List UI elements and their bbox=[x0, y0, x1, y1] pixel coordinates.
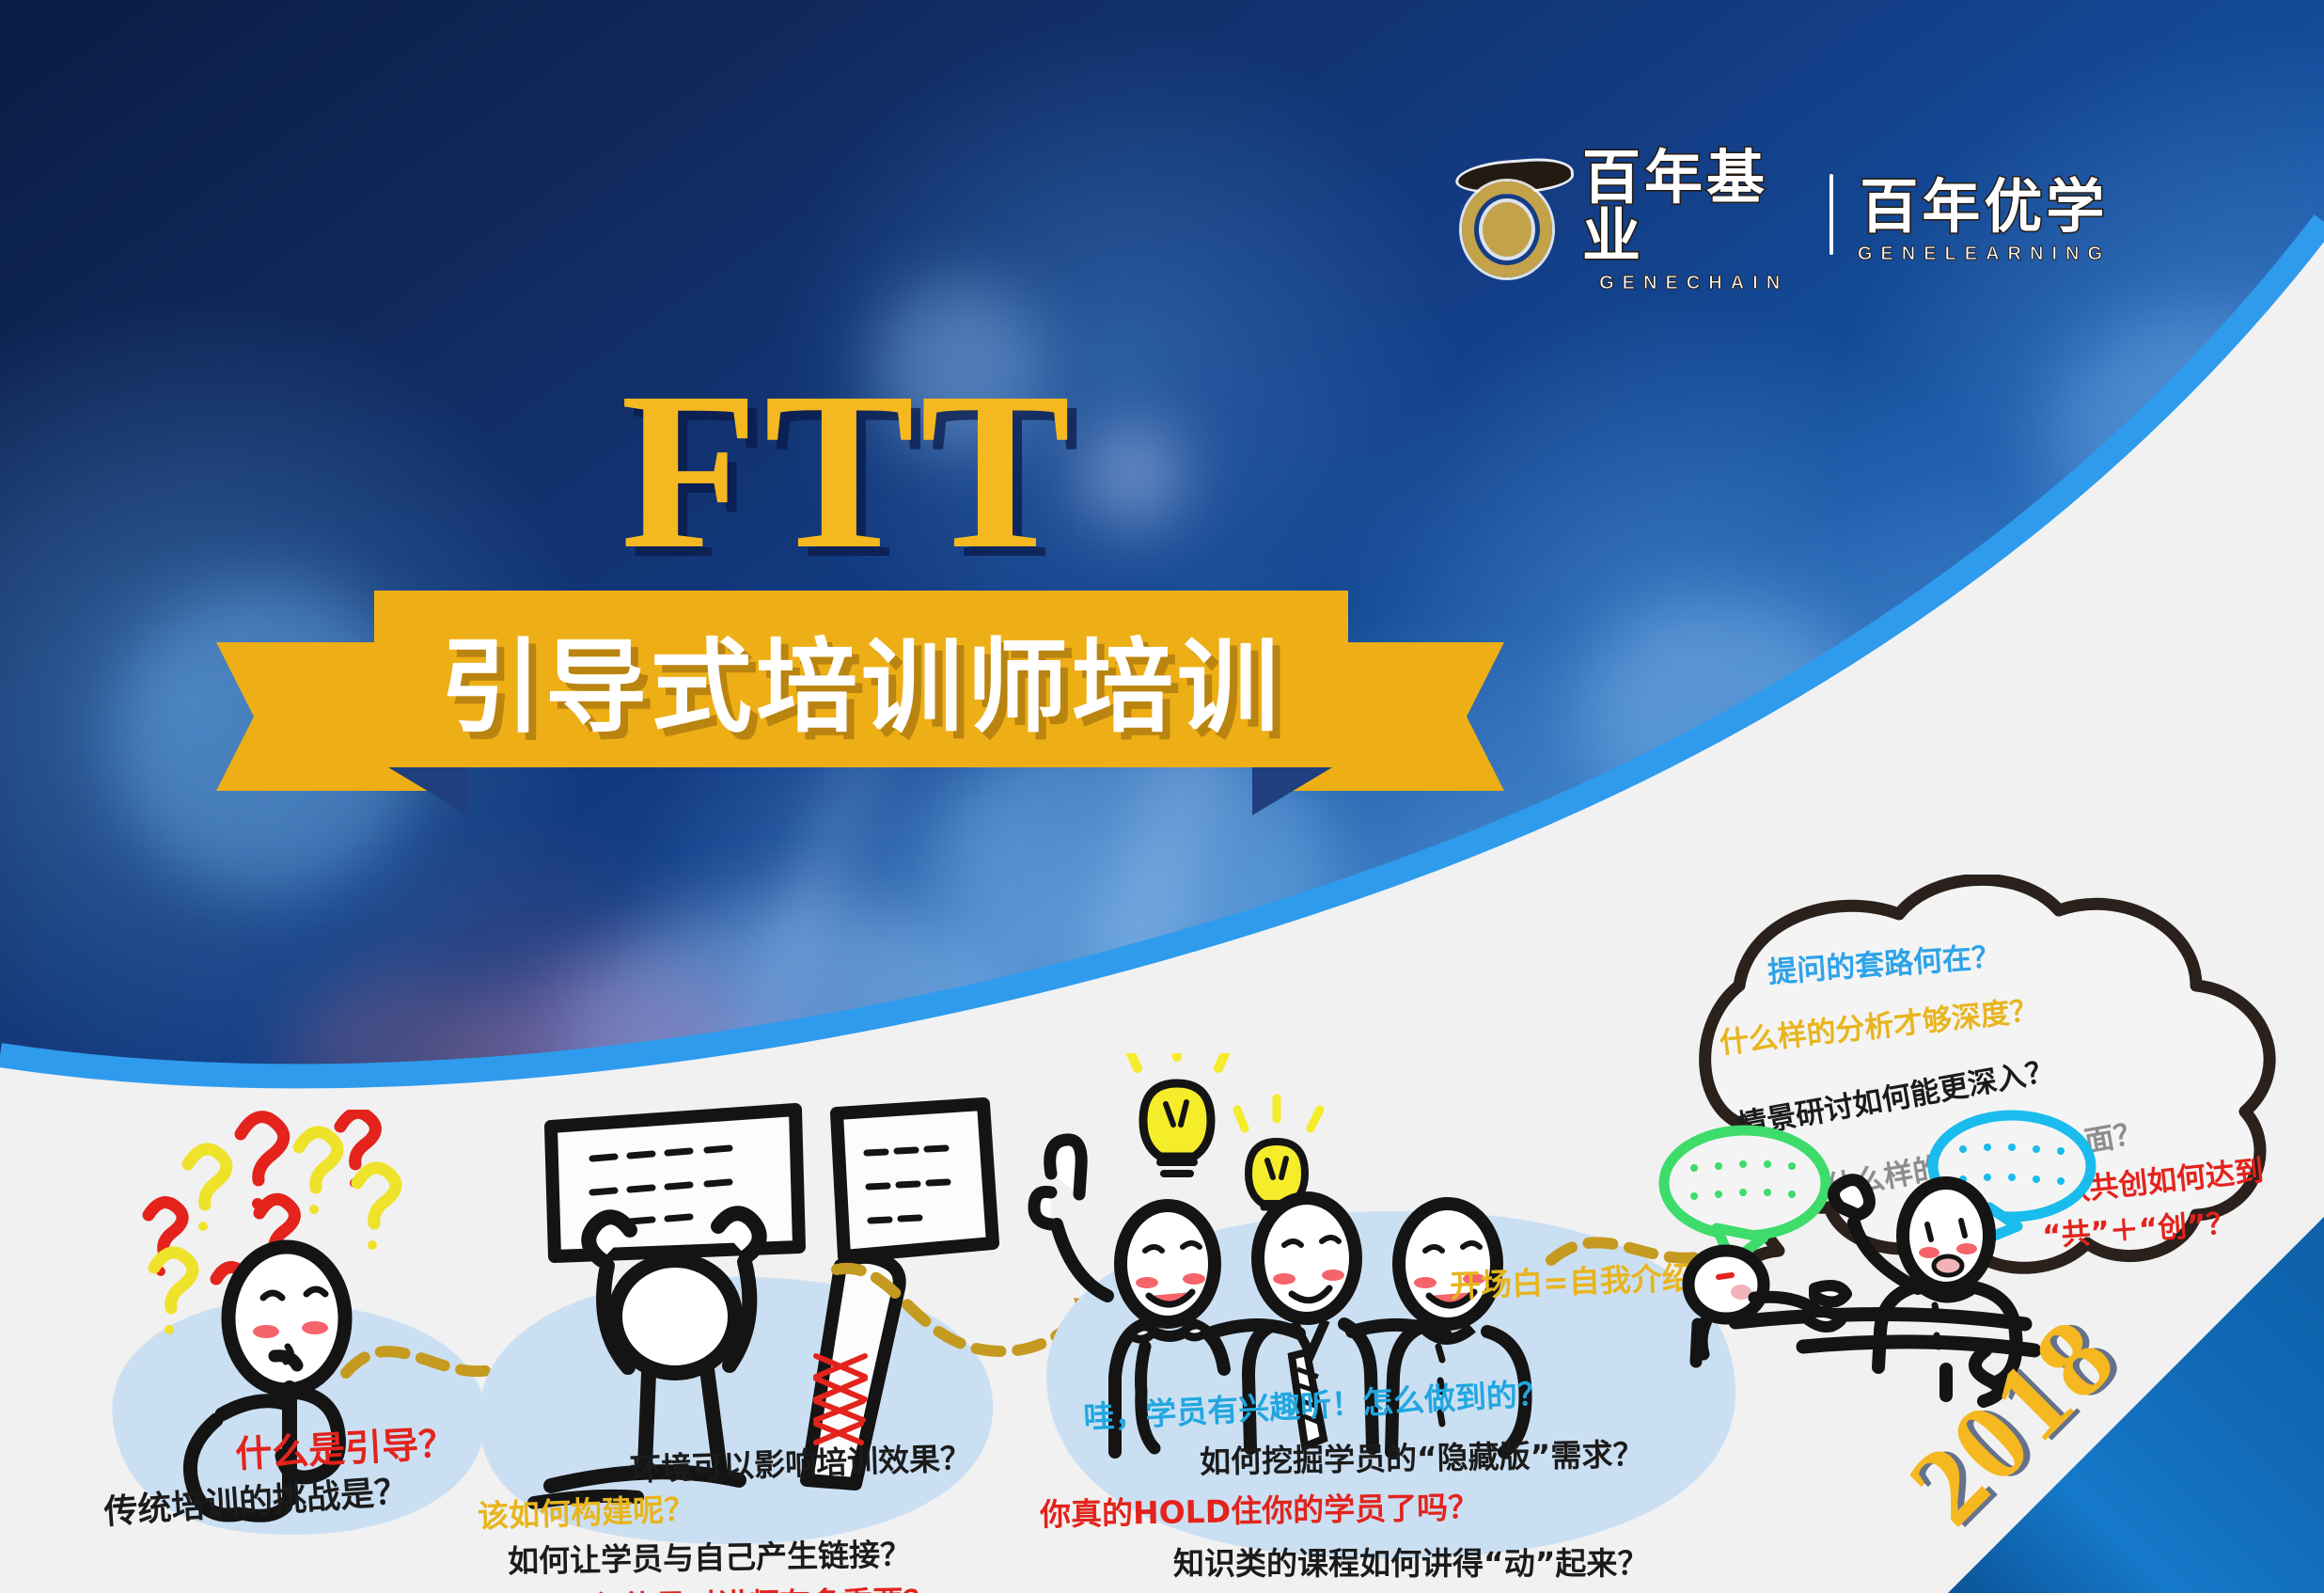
group-3-line-4: 你真的HOLD住你的学员了吗？ bbox=[1040, 1482, 1480, 1535]
brand-right-cn: 百年优学 bbox=[1860, 178, 2108, 236]
group-2-line-3: 如何让学员与自己产生链接？ bbox=[508, 1529, 912, 1581]
hero-acronym: FTT bbox=[620, 357, 1076, 583]
logo-inner-oval bbox=[1483, 202, 1531, 257]
ribbon-title: 引导式培训师培训 bbox=[374, 591, 1348, 767]
brand-right-en: GENELEARNING bbox=[1858, 244, 2111, 265]
brand-right: 百年优学 GENELEARNING bbox=[1858, 178, 2111, 265]
hero-ribbon: 引导式培训师培训 bbox=[216, 588, 1504, 832]
genechain-mark-icon bbox=[1452, 165, 1565, 277]
brand-left-en: GENECHAIN bbox=[1599, 273, 1788, 294]
group-3-line-3: 如何挖掘学员的“隐藏版”需求？ bbox=[1200, 1429, 1644, 1482]
brand-left: 百年基业 GENECHAIN bbox=[1582, 149, 1805, 294]
brand-left-cn: 百年基业 bbox=[1582, 149, 1805, 265]
brand-divider bbox=[1829, 174, 1833, 255]
brand-logo[interactable]: 百年基业 GENECHAIN 百年优学 GENELEARNING bbox=[1452, 160, 2111, 282]
group-2-line-2: 该如何构建呢？ bbox=[477, 1484, 696, 1537]
group-3-line-5: 知识类的课程如何讲得“动”起来？ bbox=[1173, 1538, 1648, 1584]
year-corner-badge: 2018 bbox=[1948, 1217, 2324, 1593]
brand-logo-text: 百年基业 GENECHAIN 百年优学 GENELEARNING bbox=[1582, 149, 2111, 294]
poster-canvas: 百年基业 GENECHAIN 百年优学 GENELEARNING FTT 引导式… bbox=[0, 0, 2324, 1593]
ribbon-panel: 引导式培训师培训 bbox=[374, 591, 1348, 767]
